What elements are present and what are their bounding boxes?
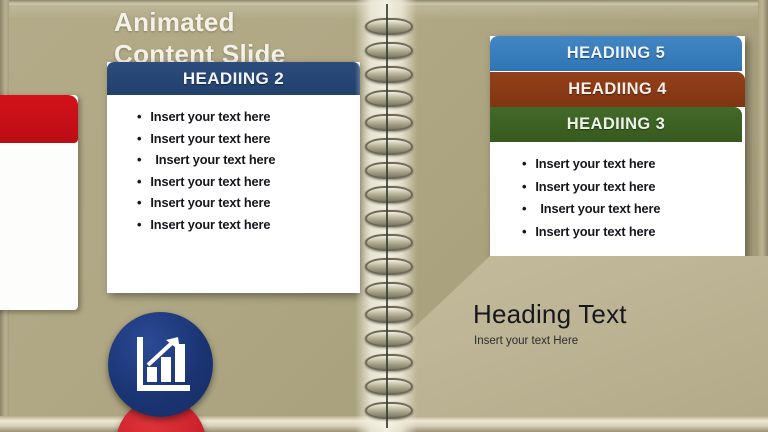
right-content-card[interactable]: HEADIING 5 HEADIING 4 HEADIING 3 Insert … — [490, 36, 745, 265]
binding-ring — [365, 210, 413, 227]
binding-ring — [365, 114, 413, 131]
angled-panel-heading: Heading Text — [473, 299, 627, 330]
list-item: here — [0, 163, 78, 188]
binding-ring — [365, 162, 413, 179]
slide-canvas: Animated Content Slide here here here he… — [0, 0, 768, 432]
binding-ring — [365, 402, 413, 419]
list-item: Insert your text here — [137, 106, 360, 128]
heading-bar-3[interactable]: HEADIING 3 — [490, 107, 742, 142]
slide-title-line1: Animated — [114, 7, 235, 37]
center-card-bullet-list: Insert your text here Insert your text h… — [107, 95, 360, 235]
binding-ring — [365, 138, 413, 155]
heading-bar-5-label: HEADIING 5 — [567, 44, 665, 63]
left-card-header — [0, 95, 78, 143]
list-item: Insert your text here — [137, 214, 360, 236]
list-item: Insert your text here — [137, 171, 360, 193]
heading-bar-4-label: HEADIING 4 — [568, 80, 666, 99]
list-item: Insert your text here — [137, 149, 360, 171]
list-item: here — [0, 263, 78, 288]
binding-ring — [365, 306, 413, 323]
list-item: here — [0, 213, 78, 238]
bar-chart-growth-icon — [134, 335, 190, 393]
binding-ring — [365, 282, 413, 299]
list-item: here — [0, 238, 78, 263]
heading-bar-4[interactable]: HEADIING 4 — [490, 72, 745, 107]
list-item: Insert your text here — [137, 192, 360, 214]
heading-bar-3-label: HEADIING 3 — [567, 115, 665, 134]
angled-heading-panel[interactable]: Heading Text Insert your text Here — [384, 256, 768, 416]
list-item: here — [0, 188, 78, 213]
angled-panel-subtext: Insert your text Here — [474, 335, 578, 347]
binding-ring — [365, 234, 413, 251]
list-item: Insert your text here — [522, 198, 745, 221]
left-content-card[interactable]: here here here here here here — [0, 95, 78, 310]
left-card-body: here here here here here here — [0, 143, 78, 313]
right-card-bullet-list: Insert your text here Insert your text h… — [490, 142, 745, 243]
binding-ring — [365, 330, 413, 347]
binding-ring — [365, 186, 413, 203]
binding-ring — [365, 378, 413, 395]
binding-ring — [365, 354, 413, 371]
binding-ring — [365, 258, 413, 275]
list-item: Insert your text here — [522, 221, 745, 244]
binding-ring — [365, 66, 413, 83]
binding-ring — [365, 18, 413, 35]
heading-bar-5[interactable]: HEADIING 5 — [490, 36, 742, 71]
list-item: Insert your text here — [522, 176, 745, 199]
binding-spine-line — [386, 4, 388, 428]
center-card-header[interactable]: HEADIING 2 — [107, 62, 360, 95]
list-item: here — [0, 288, 78, 313]
list-item: Insert your text here — [137, 128, 360, 150]
list-item: Insert your text here — [522, 153, 745, 176]
binding-ring — [365, 90, 413, 107]
center-content-card[interactable]: HEADIING 2 Insert your text here Insert … — [107, 62, 360, 293]
binding-ring — [365, 42, 413, 59]
center-card-heading-label: HEADIING 2 — [183, 69, 284, 89]
